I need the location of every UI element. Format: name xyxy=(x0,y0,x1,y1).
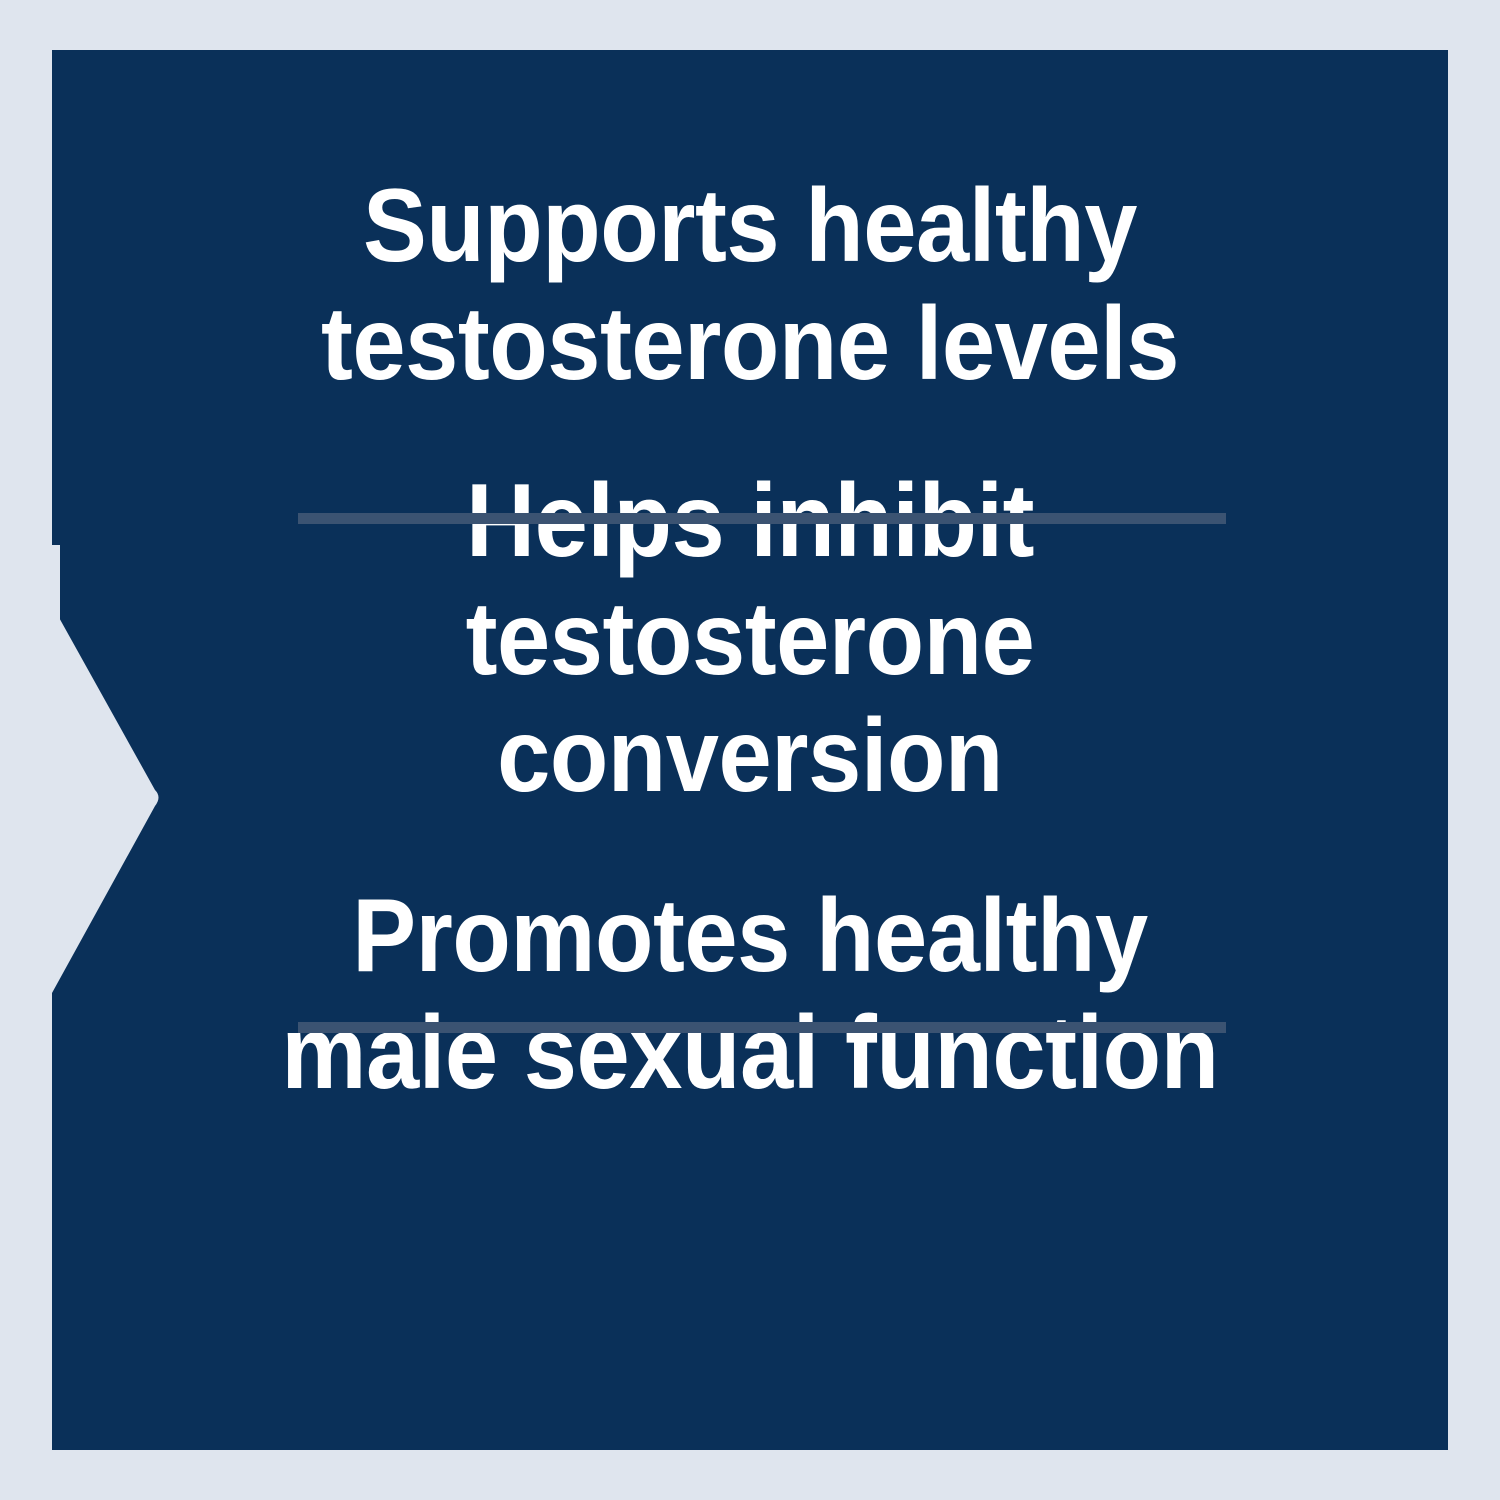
chevron-outer-band-icon xyxy=(0,545,60,955)
chevron-wedge-icon xyxy=(52,545,177,1055)
benefit-item-supports-healthy-testosterone-levels: Supports healthy testosterone levels xyxy=(262,168,1237,403)
benefit-divider-2 xyxy=(298,1022,1226,1033)
benefit-item-promotes-healthy-male-sexual-function: Promotes healthy male sexual function xyxy=(235,878,1265,1113)
benefits-panel: Supports healthy testosterone levels Hel… xyxy=(52,50,1448,1450)
benefits-graphic: Supports healthy testosterone levels Hel… xyxy=(0,0,1500,1500)
benefit-divider-1 xyxy=(298,513,1226,524)
benefits-list: Supports healthy testosterone levels Hel… xyxy=(52,50,1448,1450)
